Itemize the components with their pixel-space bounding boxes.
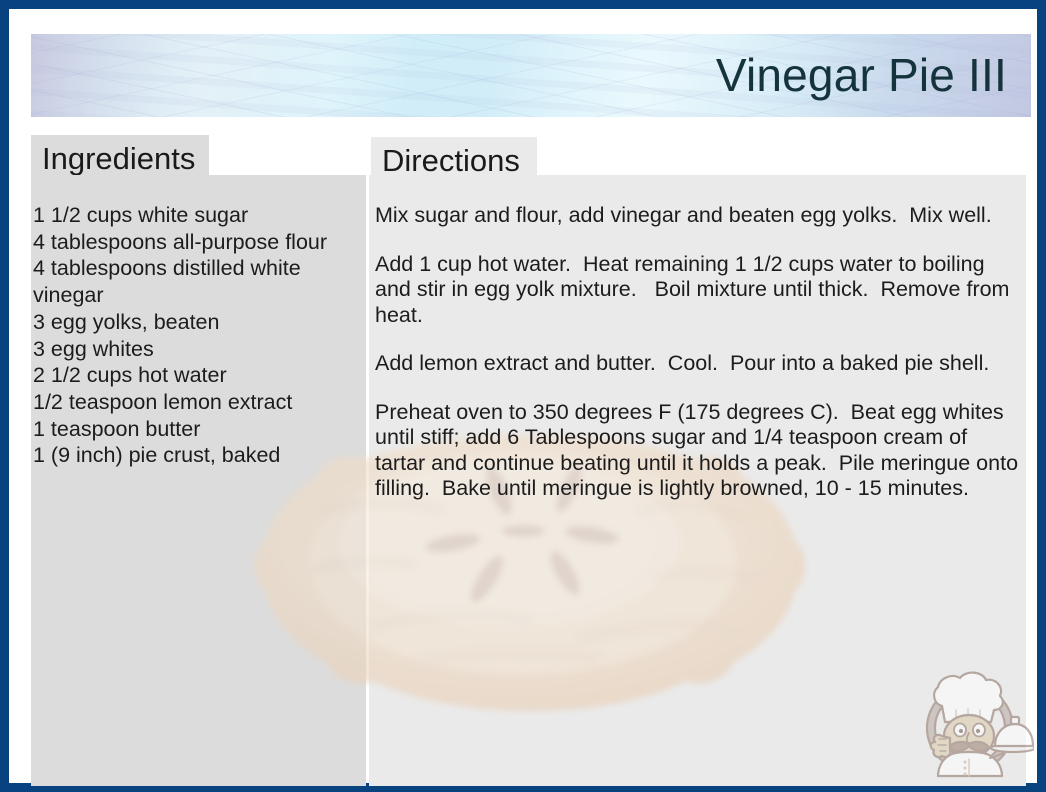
header-banner: Vinegar Pie III [31, 34, 1031, 117]
list-item: 1 (9 inch) pie crust, baked [33, 442, 355, 469]
ingredients-list: 1 1/2 cups white sugar 4 tablespoons all… [33, 202, 355, 469]
list-item: 1/2 teaspoon lemon extract [33, 389, 355, 416]
list-item: 4 tablespoons distilled white vinegar [33, 255, 355, 308]
list-item: 1 1/2 cups white sugar [33, 202, 355, 229]
list-item: 3 egg yolks, beaten [33, 309, 355, 336]
directions-paragraph: Mix sugar and flour, add vinegar and bea… [375, 203, 1021, 229]
directions-paragraph: Add 1 cup hot water. Heat remaining 1 1/… [375, 252, 1021, 329]
list-item: 2 1/2 cups hot water [33, 362, 355, 389]
directions-paragraph: Preheat oven to 350 degrees F (175 degre… [375, 400, 1021, 502]
list-item: 4 tablespoons all-purpose flour [33, 229, 355, 256]
slide-inner-surface: Vinegar Pie III Ingredients Directions [9, 9, 1037, 783]
directions-paragraph: Add lemon extract and butter. Cool. Pour… [375, 351, 1021, 377]
recipe-slide: Vinegar Pie III Ingredients Directions [0, 0, 1046, 792]
page-title: Vinegar Pie III [716, 47, 1007, 101]
list-item: 1 teaspoon butter [33, 416, 355, 443]
directions-body: Mix sugar and flour, add vinegar and bea… [375, 203, 1021, 502]
list-item: 3 egg whites [33, 336, 355, 363]
